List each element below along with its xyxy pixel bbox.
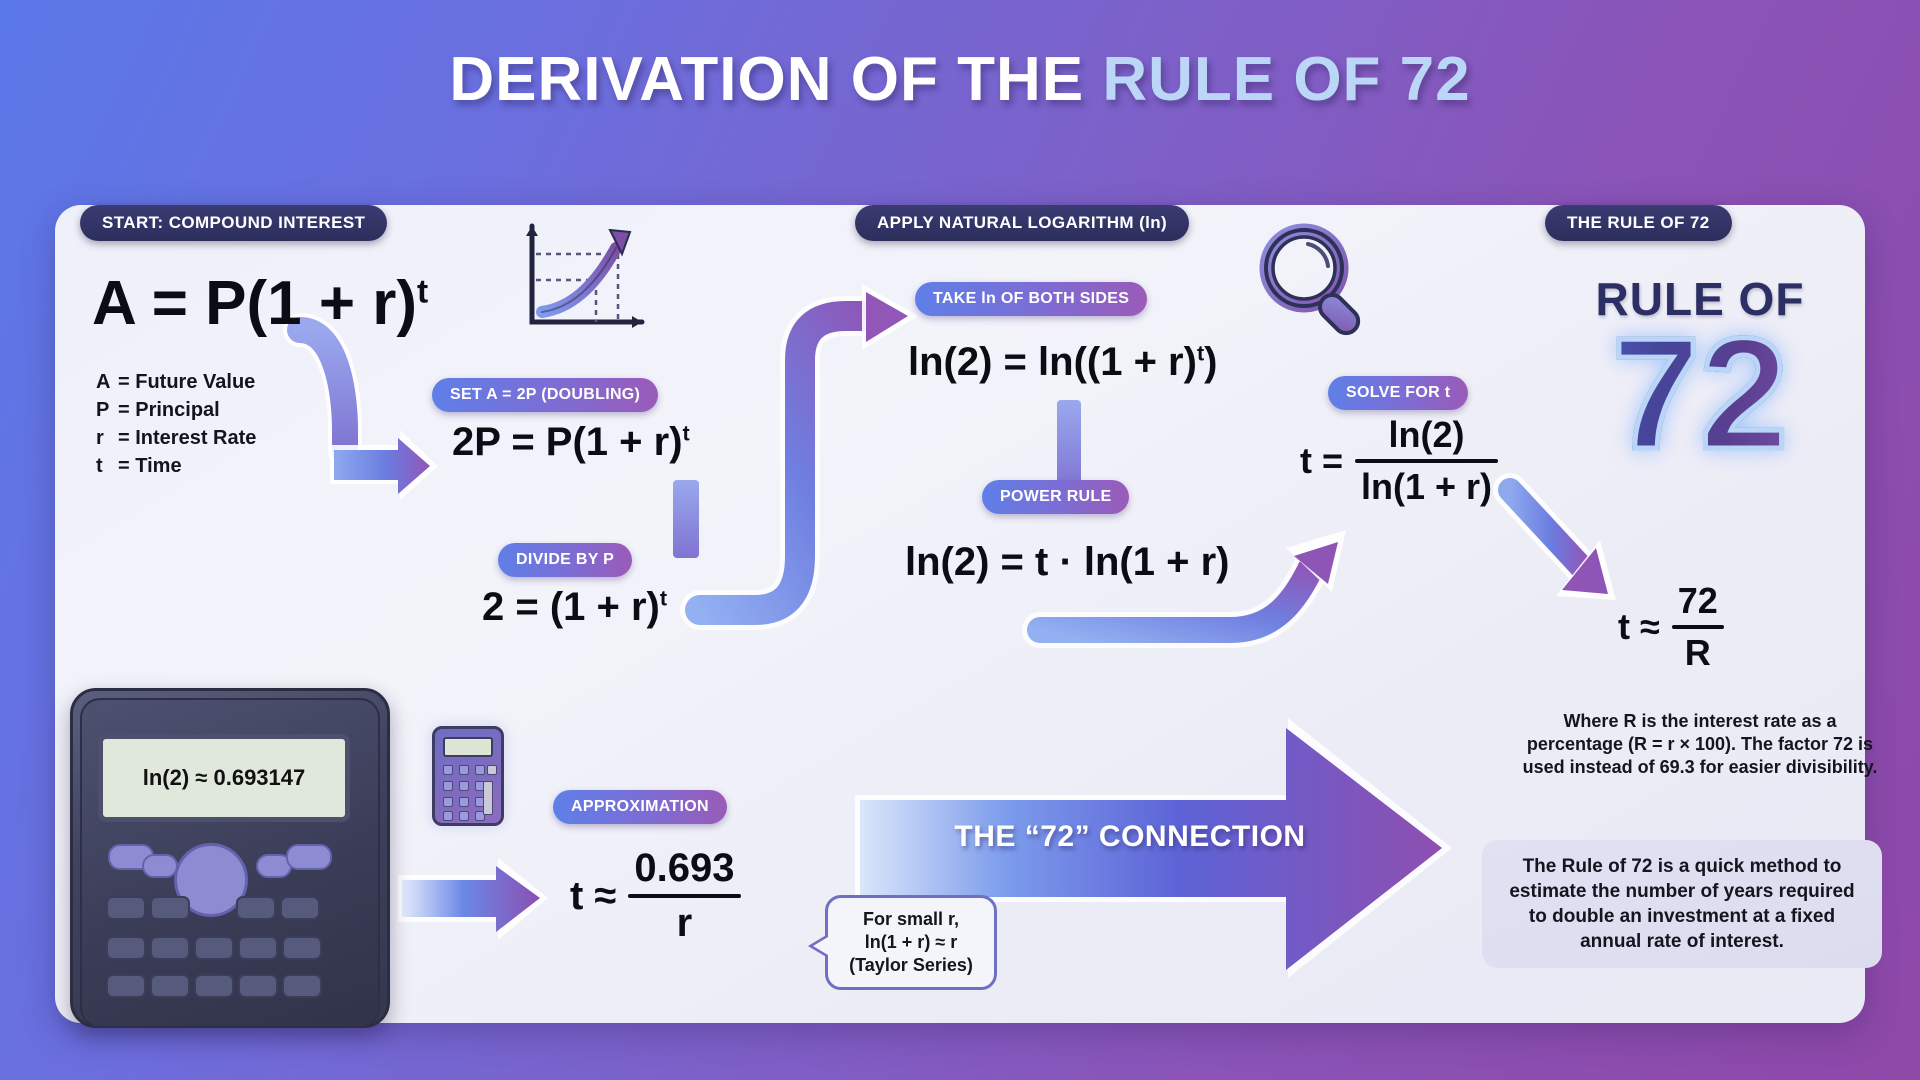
formula-compound-base: A = P(1 + r) — [92, 269, 417, 338]
calculator-icon-enter-key — [483, 781, 493, 815]
fraction-denominator: ln(1 + r) — [1355, 466, 1498, 508]
formula-approximation: t ≈ 0.693 r — [570, 846, 741, 946]
legend-eq: = — [118, 371, 130, 393]
calculator-display: ln(2) ≈ 0.693147 — [98, 734, 350, 822]
formula-rule-of-72: t ≈ 72 R — [1618, 580, 1724, 674]
fraction-rule72: 72 R — [1672, 580, 1724, 674]
fraction-denominator: r — [628, 901, 740, 946]
calculator-key[interactable] — [282, 974, 322, 998]
calculator-icon-key — [459, 811, 469, 821]
fraction-numerator: 0.693 — [628, 846, 740, 891]
legend-row: A= Future Value — [96, 368, 256, 396]
formula-doubling-exponent: t — [683, 421, 690, 446]
section-header-logarithm: APPLY NATURAL LOGARITHM (ln) — [855, 205, 1189, 241]
calculator-key[interactable] — [106, 936, 146, 960]
step-pill-approximation: APPROXIMATION — [553, 790, 727, 824]
calculator-key[interactable] — [238, 936, 278, 960]
connection-arrow-label: THE “72” CONNECTION — [930, 820, 1330, 854]
formula-approx-lhs: t ≈ — [570, 874, 616, 919]
calculator-key[interactable] — [194, 974, 234, 998]
growth-chart-icon — [518, 218, 650, 338]
step-pill-divide-by-p: DIVIDE BY P — [498, 543, 632, 577]
legend-value: Future Value — [135, 371, 255, 393]
formula-compound-exponent: t — [417, 273, 428, 310]
calculator-icon-key — [459, 797, 469, 807]
calculator-icon-key — [459, 781, 469, 791]
calculator-key[interactable] — [150, 936, 190, 960]
formula-ln-both-sides: ln(2) = ln((1 + r)t) — [908, 340, 1217, 385]
formula-divided: 2 = (1 + r)t — [482, 585, 667, 630]
legend-eq: = — [118, 427, 130, 449]
taylor-series-callout: For small r, ln(1 + r) ≈ r (Taylor Serie… — [825, 895, 997, 990]
calculator-key[interactable] — [150, 896, 190, 920]
calculator-icon-screen — [443, 737, 493, 757]
title-part-accent: RULE OF 72 — [1102, 45, 1470, 114]
calculator-key[interactable] — [236, 896, 276, 920]
calculator-icon-key — [443, 797, 453, 807]
fraction-numerator: ln(2) — [1355, 414, 1498, 456]
legend-row: t= Time — [96, 452, 256, 480]
rule72-note: Where R is the interest rate as a percen… — [1520, 710, 1880, 779]
legend-key: t — [96, 452, 118, 480]
variable-legend: A= Future Value P= Principal r= Interest… — [96, 368, 256, 480]
formula-solve-lhs: t = — [1300, 440, 1343, 482]
calculator-key[interactable] — [194, 936, 234, 960]
formula-solve-for-t: t = ln(2) ln(1 + r) — [1300, 414, 1498, 508]
formula-ln-base: ln(2) = ln((1 + r) — [908, 340, 1197, 384]
fraction-bar — [1355, 459, 1498, 463]
calculator-key[interactable] — [106, 974, 146, 998]
page-title: DERIVATION OF THE RULE OF 72 — [0, 44, 1920, 115]
magnifier-icon — [1248, 214, 1384, 350]
step-pill-power-rule: POWER RULE — [982, 480, 1129, 514]
legend-key: P — [96, 396, 118, 424]
fraction-bar — [1672, 625, 1724, 629]
rule72-definition-box: The Rule of 72 is a quick method to esti… — [1482, 840, 1882, 968]
calculator-icon-key — [443, 811, 453, 821]
legend-eq: = — [118, 399, 130, 421]
formula-rule72-lhs: t ≈ — [1618, 606, 1660, 648]
taylor-line-3: (Taylor Series) — [836, 954, 986, 977]
taylor-line-1: For small r, — [836, 908, 986, 931]
fraction-numerator: 72 — [1672, 580, 1724, 622]
calculator-key[interactable] — [150, 974, 190, 998]
formula-divided-exponent: t — [660, 586, 667, 611]
calculator-icon-key — [487, 765, 497, 775]
step-pill-solve-for-t: SOLVE FOR t — [1328, 376, 1468, 410]
legend-key: r — [96, 424, 118, 452]
calculator-icon-key — [443, 781, 453, 791]
formula-ln-close: ) — [1204, 340, 1217, 384]
taylor-line-2: ln(1 + r) ≈ r — [836, 931, 986, 954]
big-number-72: 72 — [1560, 312, 1840, 478]
calculator-key-purple[interactable] — [142, 854, 178, 878]
legend-value: Principal — [135, 399, 219, 421]
section-header-rule72: THE RULE OF 72 — [1545, 205, 1732, 241]
calculator-key[interactable] — [282, 936, 322, 960]
legend-value: Time — [135, 455, 181, 477]
fraction-solve: ln(2) ln(1 + r) — [1355, 414, 1498, 508]
calculator-key-purple[interactable] — [286, 844, 332, 870]
section-header-start: START: COMPOUND INTEREST — [80, 205, 387, 241]
legend-row: P= Principal — [96, 396, 256, 424]
formula-doubling-base: 2P = P(1 + r) — [452, 420, 683, 464]
step-pill-take-ln: TAKE ln OF BOTH SIDES — [915, 282, 1147, 316]
calculator-key[interactable] — [280, 896, 320, 920]
title-part-primary: DERIVATION OF THE — [449, 45, 1102, 114]
fraction-bar — [628, 894, 740, 898]
step-pill-doubling: SET A = 2P (DOUBLING) — [432, 378, 658, 412]
calculator-illustration: ln(2) ≈ 0.693147 — [70, 688, 390, 1028]
formula-power-rule: ln(2) = t · ln(1 + r) — [905, 540, 1229, 585]
formula-compound-interest: A = P(1 + r)t — [92, 268, 428, 339]
calculator-icon-key — [443, 765, 453, 775]
legend-key: A — [96, 368, 118, 396]
fraction-approx: 0.693 r — [628, 846, 740, 946]
legend-row: r= Interest Rate — [96, 424, 256, 452]
formula-doubling: 2P = P(1 + r)t — [452, 420, 690, 465]
calculator-icon-key — [459, 765, 469, 775]
calculator-key[interactable] — [106, 896, 146, 920]
legend-value: Interest Rate — [135, 427, 256, 449]
fraction-denominator: R — [1672, 632, 1724, 674]
calculator-key[interactable] — [238, 974, 278, 998]
calculator-icon — [432, 726, 504, 826]
legend-eq: = — [118, 455, 130, 477]
formula-divided-base: 2 = (1 + r) — [482, 585, 660, 629]
calculator-icon-key — [475, 765, 485, 775]
